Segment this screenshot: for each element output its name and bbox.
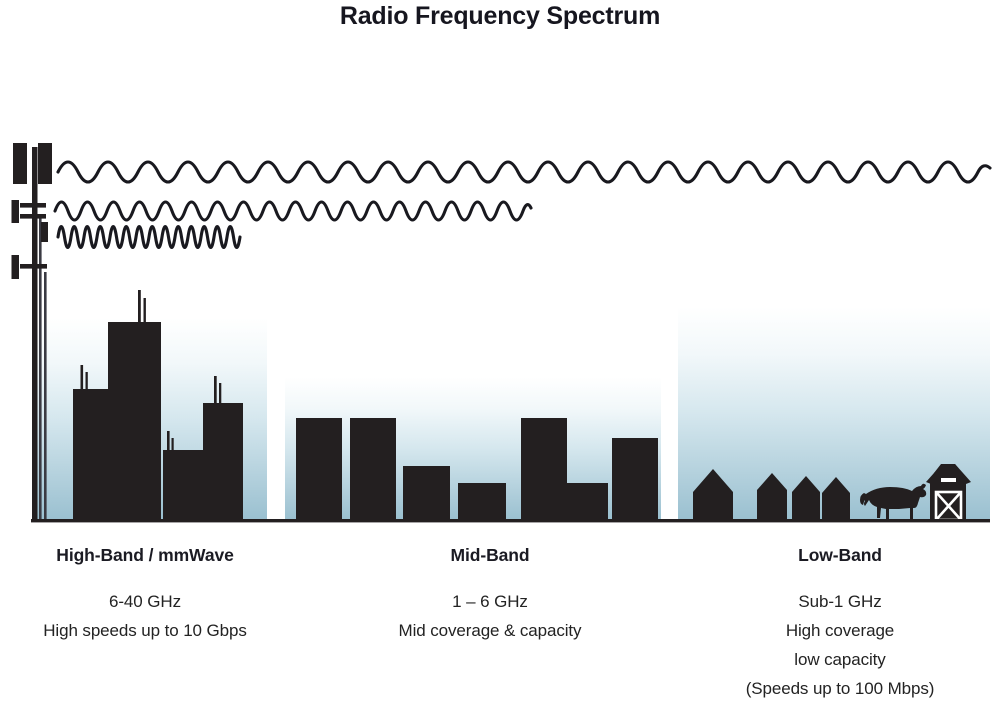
band-line-low-band-0: Sub-1 GHz <box>690 587 990 616</box>
band-line-low-band-1: High coverage <box>690 616 990 645</box>
building-4-spire-b <box>219 383 221 405</box>
band-heading-mid-band: Mid-Band <box>345 545 635 566</box>
wave-low-band <box>58 162 990 182</box>
band-line-low-band-2: low capacity <box>690 645 990 674</box>
building-3 <box>163 450 203 520</box>
building-2-spire-a <box>138 290 141 324</box>
block-4 <box>458 483 506 520</box>
radio-frequency-spectrum-infographic: Radio Frequency Spectrum <box>0 0 1000 700</box>
band-line-mid-band-0: 1 – 6 GHz <box>345 587 635 616</box>
tower-antenna-panel-small <box>41 222 48 242</box>
band-line-mid-band-1: Mid coverage & capacity <box>345 616 635 645</box>
radio-waves <box>55 162 990 248</box>
tower-antenna-panel-mid <box>12 200 20 223</box>
band-line-high-band-0: 6-40 GHz <box>10 587 280 616</box>
block-7 <box>612 438 658 520</box>
building-2-spire-b <box>144 298 146 324</box>
band-column-high-band: High-Band / mmWave 6-40 GHz High speeds … <box>10 545 280 645</box>
tower-crossbar-lower <box>20 264 47 269</box>
band-column-low-band: Low-Band Sub-1 GHz High coverage low cap… <box>690 545 990 703</box>
ground-line <box>31 519 990 522</box>
band-captions: High-Band / mmWave 6-40 GHz High speeds … <box>0 545 1000 695</box>
building-1 <box>73 389 113 520</box>
building-4-spire-a <box>214 376 217 405</box>
wave-mid-band <box>55 202 531 220</box>
block-3 <box>403 466 450 520</box>
band-line-low-band-3: (Speeds up to 100 Mbps) <box>690 674 990 703</box>
band-line-high-band-1: High speeds up to 10 Gbps <box>10 616 280 645</box>
block-6 <box>567 483 608 520</box>
tower-antenna-panel-lower <box>12 255 20 279</box>
building-3-spire-b <box>172 438 174 452</box>
building-4 <box>203 403 243 520</box>
block-5 <box>521 418 567 520</box>
block-1 <box>296 418 342 520</box>
wave-high-band <box>58 227 240 248</box>
block-2 <box>350 418 396 520</box>
tower-crossbar-upper <box>20 203 46 208</box>
band-heading-high-band: High-Band / mmWave <box>10 545 280 566</box>
band-column-mid-band: Mid-Band 1 – 6 GHz Mid coverage & capaci… <box>345 545 635 645</box>
building-2 <box>108 322 161 520</box>
cell-tower <box>12 143 53 522</box>
tower-antenna-panel-left <box>13 143 27 184</box>
building-3-spire-a <box>167 431 170 452</box>
tower-mast-inner <box>39 218 42 522</box>
barn-loft-window <box>941 478 956 482</box>
tower-crossbar-upper-2 <box>20 214 46 219</box>
tower-mast-foot <box>44 272 47 522</box>
band-heading-low-band: Low-Band <box>690 545 990 566</box>
tower-antenna-panel-right <box>38 143 52 184</box>
building-1-spire-b <box>86 372 88 391</box>
building-1-spire-a <box>81 365 84 391</box>
